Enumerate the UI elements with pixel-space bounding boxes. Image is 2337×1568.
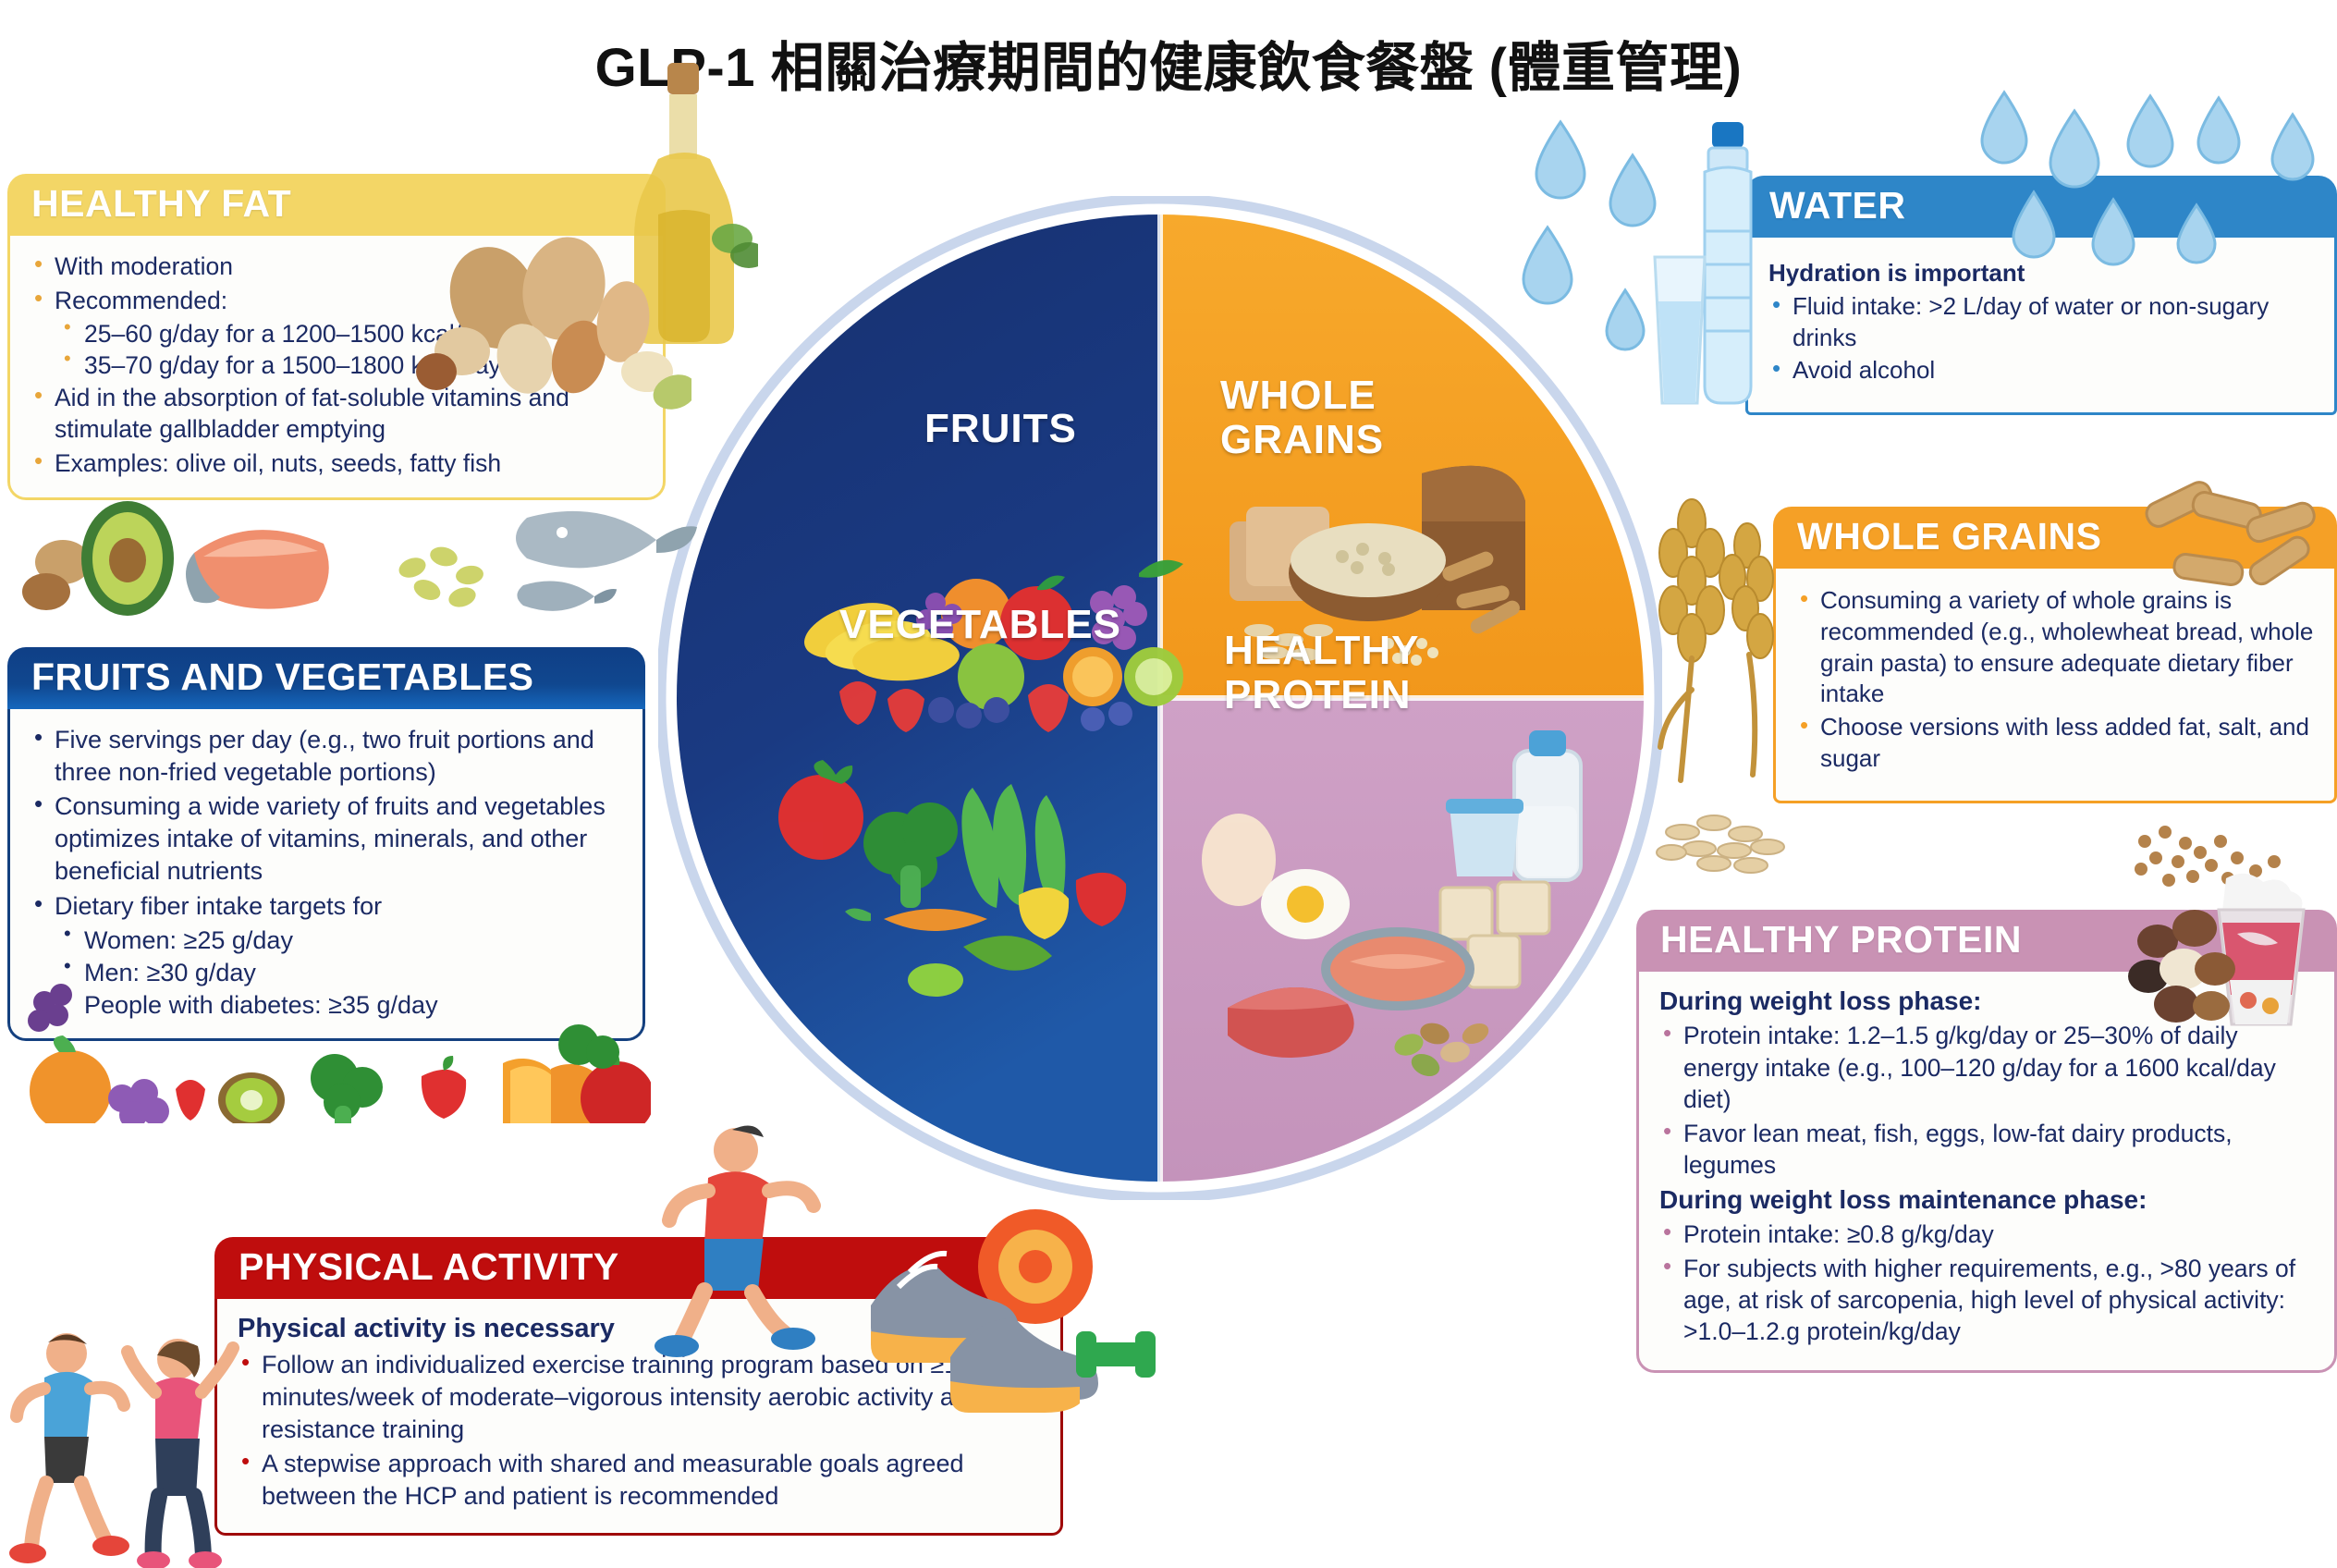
plate-label-whole-grains-line2: GRAINS <box>1220 418 1384 462</box>
panel-whole-grains: WHOLE GRAINS Consuming a variety of whol… <box>1773 507 2337 803</box>
list-item: Five servings per day (e.g., two fruit p… <box>31 724 622 789</box>
list-item: Fluid intake: >2 L/day of water or non-s… <box>1768 291 2314 354</box>
panel-healthy-protein-header: HEALTHY PROTEIN <box>1636 910 2337 972</box>
plate-label-whole-grains-line1: WHOLE <box>1220 374 1384 418</box>
panel-healthy-protein-lead-2: During weight loss maintenance phase: <box>1659 1183 2314 1217</box>
list-item: 35–70 g/day for a 1500–1800 kcal/day die… <box>60 349 642 381</box>
panel-fruits-and-vegetables-header: FRUITS AND VEGETABLES <box>7 647 645 709</box>
panel-fruits-and-vegetables: FRUITS AND VEGETABLES Five servings per … <box>7 647 645 1041</box>
list-item: 25–60 g/day for a 1200–1500 kcal/day die… <box>60 318 642 349</box>
panel-healthy-protein-lead-1: During weight loss phase: <box>1659 985 2314 1018</box>
list-item: People with diabetes: ≥35 g/day <box>60 989 622 1022</box>
list-item: Women: ≥25 g/day <box>60 925 622 957</box>
panel-healthy-protein-body: During weight loss phase: Protein intake… <box>1636 972 2337 1373</box>
plate-label-vegetables: VEGETABLES <box>839 603 1121 647</box>
list-item: Consuming a wide variety of fruits and v… <box>31 790 622 888</box>
list-item: With moderation <box>31 251 642 282</box>
panel-fruits-and-vegetables-body: Five servings per day (e.g., two fruit p… <box>7 709 645 1041</box>
list-item: Men: ≥30 g/day <box>60 957 622 989</box>
panel-water-body: Hydration is important Fluid intake: >2 … <box>1745 238 2337 415</box>
list-item: For subjects with higher requirements, e… <box>1659 1253 2314 1348</box>
list-item: Recommended: <box>31 285 642 316</box>
list-item: Avoid alcohol <box>1768 355 2314 386</box>
exercising-people-illustration <box>9 1322 250 1568</box>
list-item: Favor lean meat, fish, eggs, low-fat dai… <box>1659 1118 2314 1182</box>
panel-water-header: WATER <box>1745 176 2337 238</box>
list-item: Protein intake: ≥0.8 g/kg/day <box>1659 1219 2314 1250</box>
plate-label-healthy-protein-line1: HEALTHY <box>1224 629 1420 673</box>
list-item: Aid in the absorption of fat-soluble vit… <box>31 382 642 446</box>
panel-healthy-fat-header: HEALTHY FAT <box>7 174 666 236</box>
list-item: Follow an individualized exercise traini… <box>238 1349 1040 1446</box>
healthy-eating-plate: FRUITS VEGETABLES WHOLE GRAINS HEALTHY P… <box>658 196 1662 1200</box>
list-item: Consuming a variety of whole grains is r… <box>1796 585 2314 710</box>
list-item: Examples: olive oil, nuts, seeds, fatty … <box>31 447 642 479</box>
list-item: A stepwise approach with shared and meas… <box>238 1448 1040 1513</box>
panel-water: WATER Hydration is important Fluid intak… <box>1745 176 2337 415</box>
plate-label-fruits: FRUITS <box>924 407 1077 451</box>
panel-physical-activity-body: Physical activity is necessary Follow an… <box>214 1299 1063 1536</box>
list-item: Dietary fiber intake targets for <box>31 890 622 923</box>
page-title: GLP-1 相關治療期間的健康飲食餐盤 (體重管理) <box>0 24 2337 102</box>
panel-healthy-protein: HEALTHY PROTEIN During weight loss phase… <box>1636 910 2337 1373</box>
list-item: Protein intake: 1.2–1.5 g/kg/day or 25–3… <box>1659 1020 2314 1115</box>
plate-label-whole-grains: WHOLE GRAINS <box>1220 374 1384 463</box>
panel-physical-activity: PHYSICAL ACTIVITY Physical activity is n… <box>214 1237 1063 1536</box>
panel-physical-activity-header: PHYSICAL ACTIVITY <box>214 1237 1063 1299</box>
panel-water-lead: Hydration is important <box>1768 258 2314 289</box>
panel-healthy-fat: HEALTHY FAT With moderation Recommended:… <box>7 174 666 500</box>
infographic-root: GLP-1 相關治療期間的健康飲食餐盤 (體重管理) <box>0 0 2337 1568</box>
plate-label-healthy-protein: HEALTHY PROTEIN <box>1224 629 1420 718</box>
panel-whole-grains-header: WHOLE GRAINS <box>1773 507 2337 569</box>
panel-healthy-fat-body: With moderation Recommended: 25–60 g/day… <box>7 236 666 500</box>
plate-label-healthy-protein-line2: PROTEIN <box>1224 673 1420 717</box>
list-item: Choose versions with less added fat, sal… <box>1796 712 2314 775</box>
panel-physical-activity-lead: Physical activity is necessary <box>238 1312 1040 1347</box>
panel-whole-grains-body: Consuming a variety of whole grains is r… <box>1773 569 2337 803</box>
plate-svg <box>658 196 1662 1200</box>
person-running <box>9 1333 129 1563</box>
fat-foods-illustration <box>9 490 712 619</box>
